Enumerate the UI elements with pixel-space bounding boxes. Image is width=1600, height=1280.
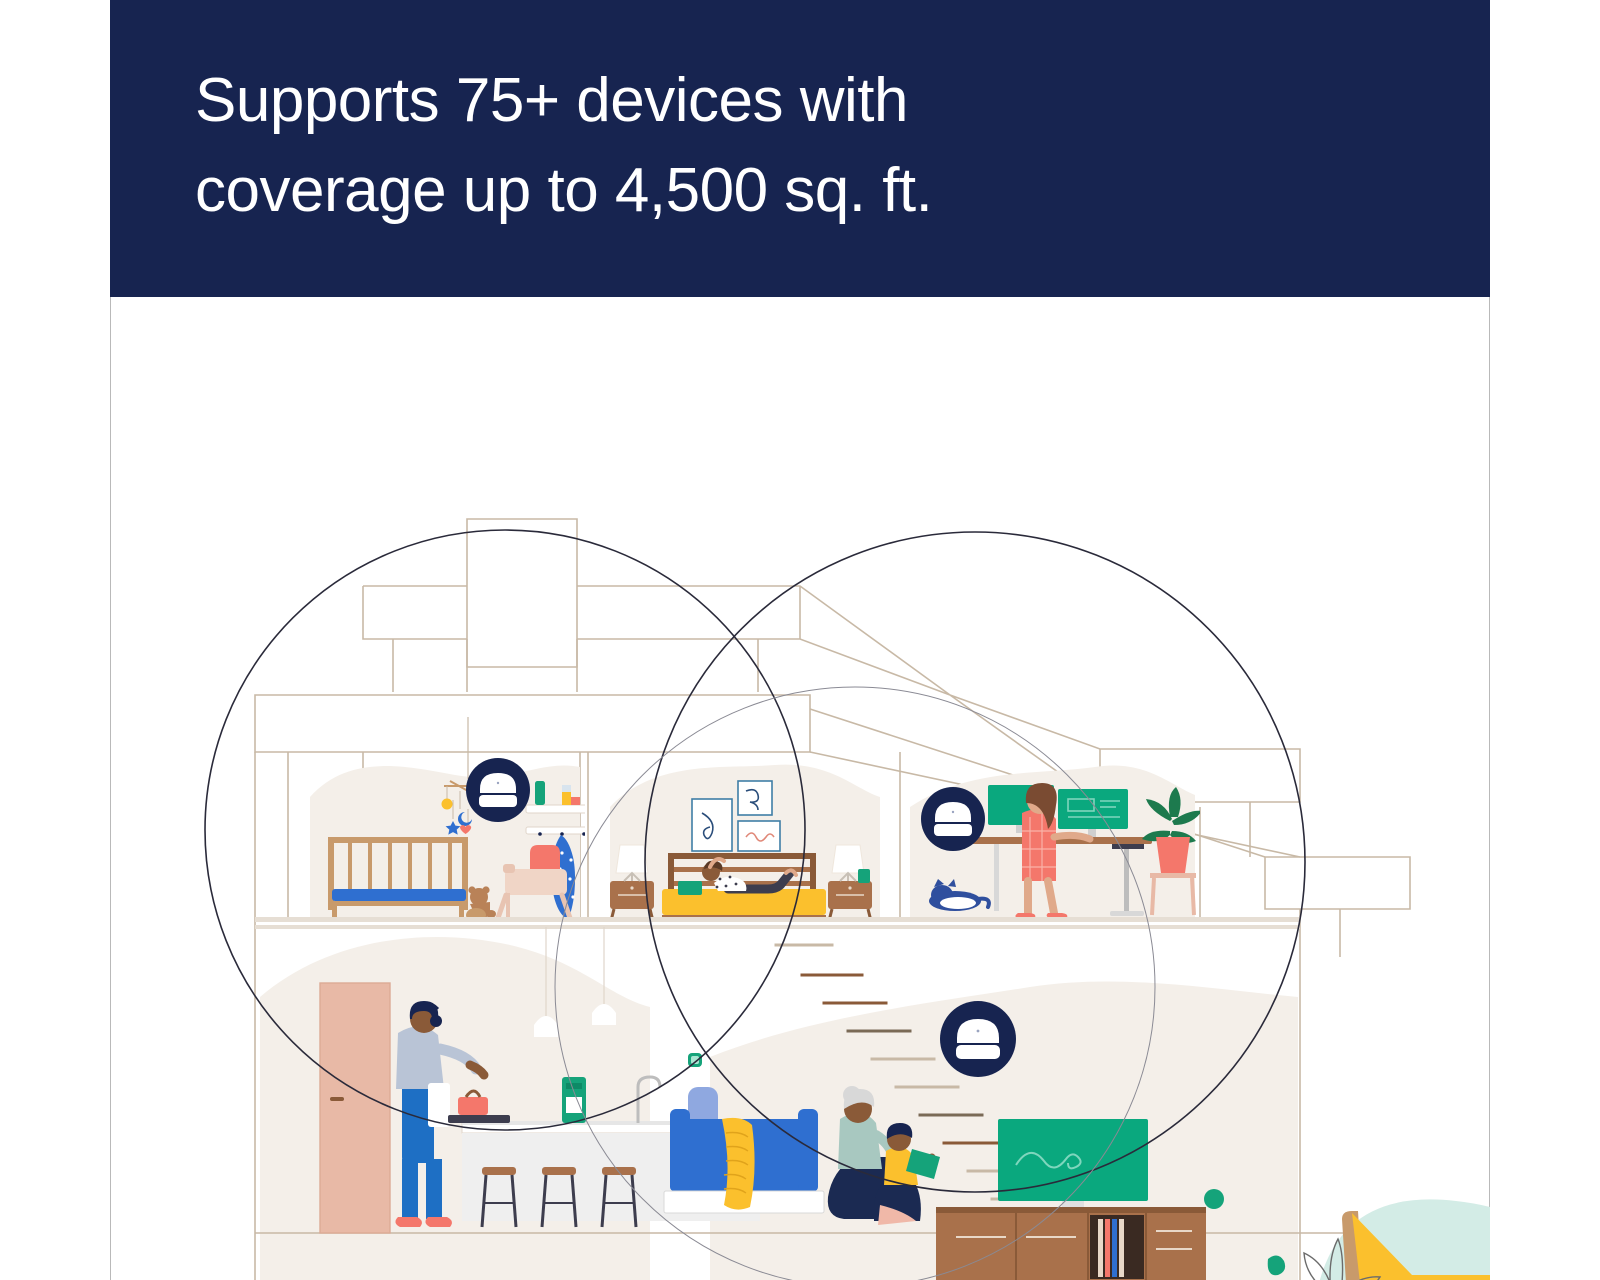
crib-mattress bbox=[332, 889, 466, 901]
router-icon-base bbox=[956, 1045, 1000, 1059]
main-beam-left bbox=[255, 695, 810, 752]
router-icon-base bbox=[479, 795, 517, 807]
room-patio bbox=[1298, 1199, 1490, 1280]
cook-shirt bbox=[396, 1026, 444, 1089]
router-icon-base bbox=[934, 824, 972, 836]
cooktop bbox=[448, 1115, 510, 1123]
front-door bbox=[320, 983, 390, 1233]
shelf-bottle bbox=[535, 781, 545, 805]
headphones bbox=[430, 1015, 442, 1027]
page-headline: Supports 75+ devices with coverage up to… bbox=[195, 56, 1375, 236]
router-led bbox=[977, 1030, 980, 1033]
roof-slab-left bbox=[363, 586, 467, 639]
router-led bbox=[952, 811, 954, 813]
upper-floor-slab bbox=[255, 917, 1300, 922]
coffee-maker bbox=[562, 1077, 586, 1123]
mesh-node-nursery bbox=[466, 758, 530, 822]
chimney bbox=[467, 519, 577, 667]
blob-kitchen bbox=[260, 937, 650, 1280]
mesh-node-office bbox=[921, 787, 985, 851]
mesh-node-livingroom bbox=[940, 1001, 1016, 1077]
media-console bbox=[936, 1207, 1206, 1280]
house-coverage-illustration bbox=[110, 297, 1490, 1280]
bedside-cup bbox=[858, 869, 870, 883]
hook-rail bbox=[526, 827, 606, 836]
smart-sensor-kitchen bbox=[688, 1053, 702, 1067]
decor-vase bbox=[1204, 1189, 1224, 1209]
shelf-block-red bbox=[571, 797, 580, 805]
pot bbox=[458, 1097, 488, 1115]
plant-pot bbox=[1156, 837, 1190, 873]
shelf-block-yellow bbox=[562, 792, 571, 805]
header-banner: Supports 75+ devices with coverage up to… bbox=[110, 0, 1490, 297]
router-led bbox=[497, 782, 499, 784]
mobile-charm-sun bbox=[442, 799, 453, 810]
main-beam-right bbox=[1265, 857, 1410, 909]
tablet bbox=[678, 881, 702, 895]
promo-page: Supports 75+ devices with coverage up to… bbox=[0, 0, 1600, 1280]
